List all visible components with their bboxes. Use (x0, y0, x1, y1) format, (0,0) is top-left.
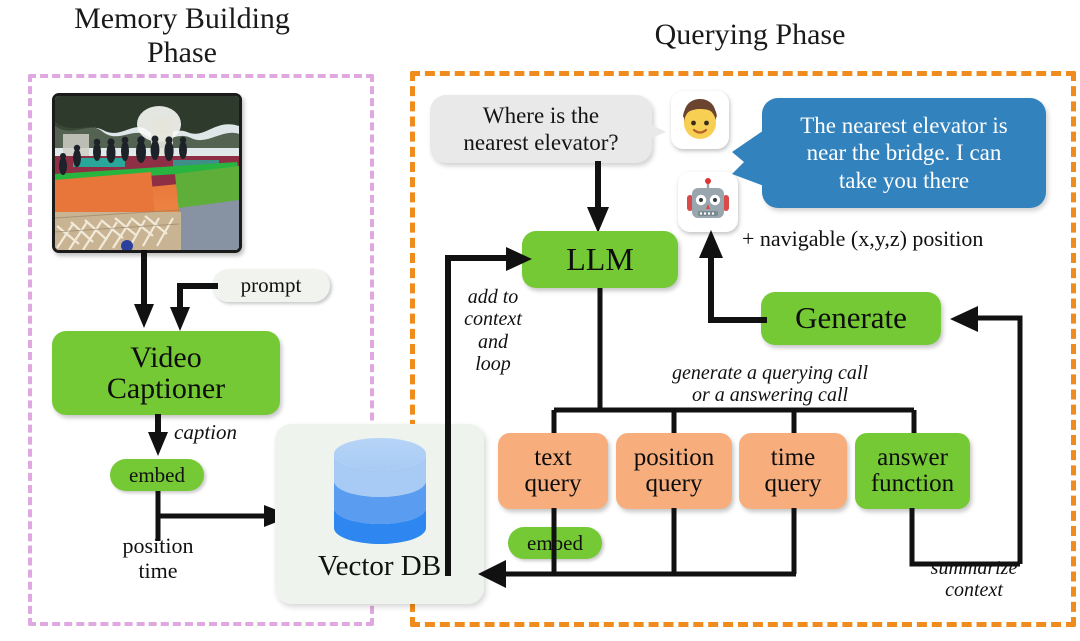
summarize-note: summarize context (906, 557, 1042, 602)
user-avatar (671, 91, 729, 149)
loop-note-line4: loop (450, 353, 536, 375)
llm-label: LLM (566, 243, 634, 277)
robot-emoji-icon (683, 177, 733, 227)
loop-note-line1: add to (450, 286, 536, 308)
robot-answer-bubble: The nearest elevator is near the bridge.… (762, 98, 1046, 208)
tool-position-query-line2: query (646, 471, 703, 497)
summarize-note-line2: context (906, 579, 1042, 601)
tool-position-query-line1: position (634, 445, 715, 471)
tool-text-query[interactable]: text query (498, 433, 608, 509)
position-time-line1: position (96, 534, 220, 559)
database-cylinder-icon (324, 436, 436, 544)
video-thumbnail-content (55, 96, 239, 250)
memory-embed-pill[interactable]: embed (110, 459, 204, 491)
prompt-label: prompt (241, 273, 302, 298)
video-captioner-line1: Video (130, 342, 202, 374)
robot-bubble-tail (730, 128, 766, 190)
robot-answer-line1: The nearest elevator is (800, 112, 1008, 139)
tool-time-query-line2: query (765, 471, 822, 497)
position-time-line2: time (96, 559, 220, 584)
robot-answer-line2: near the bridge. I can (807, 139, 1002, 166)
memory-phase-title: Memory Building Phase (22, 2, 342, 69)
tool-position-query[interactable]: position query (616, 433, 732, 509)
querying-phase-title-line1: Querying Phase (550, 18, 950, 52)
querying-phase-title: Querying Phase (550, 18, 950, 52)
user-question-line1: Where is the (483, 102, 599, 129)
memory-phase-title-line1: Memory Building (22, 2, 342, 36)
tool-text-query-line2: query (525, 471, 582, 497)
tool-answer-function-line1: answer (877, 445, 948, 471)
video-thumbnail (52, 93, 242, 253)
memory-embed-label: embed (129, 463, 185, 488)
memory-phase-title-line2: Phase (22, 36, 342, 70)
arrow-tools-to-vectordb (478, 508, 818, 580)
tool-time-query-line1: time (771, 445, 815, 471)
tool-time-query[interactable]: time query (739, 433, 847, 509)
robot-answer-line3: take you there (839, 167, 969, 194)
video-captioner-line2: Captioner (107, 373, 225, 405)
loop-note-line3: and (450, 331, 536, 353)
arrow-captioner-to-embed (146, 414, 174, 460)
robot-avatar (678, 172, 738, 232)
diagram-canvas: Memory Building Phase Querying Phase (0, 0, 1080, 641)
position-time-label: position time (96, 534, 220, 583)
loop-note-line2: context (450, 308, 536, 330)
arrow-prompt-to-captioner (166, 281, 224, 335)
prompt-pill[interactable]: prompt (212, 269, 330, 302)
llm-to-tools-bus (548, 288, 968, 434)
arrow-video-to-captioner (132, 250, 162, 334)
arrow-question-to-llm (586, 161, 616, 235)
llm-node[interactable]: LLM (522, 231, 678, 288)
user-question-bubble: Where is the nearest elevator? (430, 95, 652, 163)
summarize-note-line1: summarize (906, 557, 1042, 579)
vector-db-label: Vector DB (318, 550, 441, 582)
loop-note: add to context and loop (450, 286, 536, 376)
arrow-right-rail-to-generate (940, 310, 1040, 566)
video-captioner-node[interactable]: Video Captioner (52, 331, 280, 415)
user-question-line2: nearest elevator? (463, 129, 618, 156)
user-bubble-tail (638, 118, 670, 150)
navigable-position-note: + navigable (x,y,z) position (742, 227, 1072, 252)
tool-text-query-line1: text (534, 445, 572, 471)
person-emoji-icon (676, 96, 724, 144)
caption-edge-label: caption (174, 421, 284, 445)
